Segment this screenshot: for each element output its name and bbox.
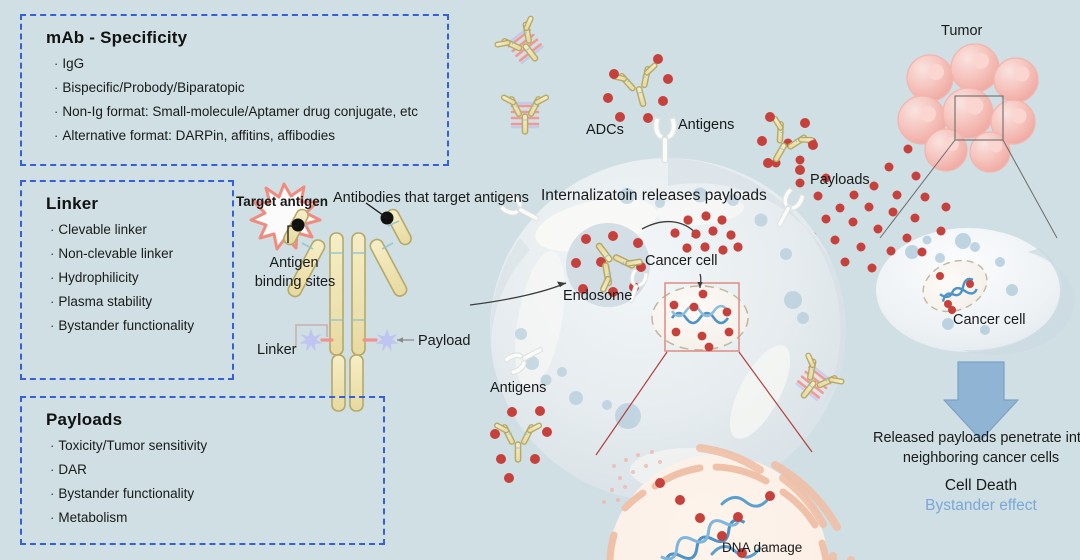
panel-linker-item-3: ·Plasma stability <box>50 294 218 309</box>
label-internalization: Internalizatoin releases payloads <box>541 186 767 205</box>
label-target-antigen: Target antigen <box>236 194 328 211</box>
panel-linker-item-2: ·Hydrophilicity <box>50 270 218 285</box>
panel-linker-item-4: ·Bystander functionality <box>50 318 218 333</box>
panel-mab-item-3: ·Alternative format: DARPin, affitins, a… <box>54 128 433 143</box>
panel-mab-item-0-text: IgG <box>62 56 84 71</box>
label-payloads-scatter: Payloads <box>810 171 870 189</box>
panel-linker-item-0-text: Clevable linker <box>58 222 147 237</box>
adc-molecule-3 <box>603 54 673 123</box>
panel-mab-item-1: ·Bispecific/Probody/Biparatopic <box>54 80 433 95</box>
label-payload: Payload <box>418 332 470 350</box>
label-cancer-cell-right: Cancer cell <box>953 311 1026 329</box>
label-cell-death: Cell Death <box>881 476 1080 495</box>
adc-molecule-2 <box>501 94 549 134</box>
panel-mab-item-2-text: Non-Ig format: Small-molecule/Aptamer dr… <box>62 104 418 119</box>
panel-linker-item-4-text: Bystander functionality <box>58 318 194 333</box>
label-antigen-binding-sites-line1: Antigen <box>251 254 337 272</box>
label-endosome: Endosome <box>563 287 632 305</box>
panel-linker-item-1-text: Non-clevable linker <box>58 246 173 261</box>
center-cancer-cell <box>470 118 847 502</box>
label-dna-damage: DNA damage <box>722 540 802 557</box>
label-released-line2: neighboring cancer cells <box>851 449 1080 467</box>
panel-payloads-item-1: ·DAR <box>50 462 369 477</box>
panel-payloads-item-3-text: Metabolism <box>58 510 127 525</box>
panel-payloads-item-2-text: Bystander functionality <box>58 486 194 501</box>
panel-payloads: Payloads ·Toxicity/Tumor sensitivity ·DA… <box>20 396 385 545</box>
panel-payloads-item-1-text: DAR <box>58 462 87 477</box>
tumor-cluster <box>880 44 1057 238</box>
panel-linker-item-1: ·Non-clevable linker <box>50 246 218 261</box>
panel-mab-item-0: ·IgG <box>54 56 433 71</box>
figure-canvas: mAb - Specificity ·IgG ·Bispecific/Probo… <box>0 0 1080 560</box>
panel-linker-title: Linker <box>46 194 218 214</box>
panel-linker-item-3-text: Plasma stability <box>58 294 152 309</box>
label-antigens-top: Antigens <box>678 116 734 134</box>
panel-payloads-item-3: ·Metabolism <box>50 510 369 525</box>
panel-payloads-item-0: ·Toxicity/Tumor sensitivity <box>50 438 369 453</box>
label-antigens-left: Antigens <box>490 379 546 397</box>
label-cancer-cell-center: Cancer cell <box>645 252 718 270</box>
panel-payloads-title: Payloads <box>46 410 369 430</box>
antibody-schematic <box>251 184 414 411</box>
panel-linker: Linker ·Clevable linker ·Non-clevable li… <box>20 180 234 380</box>
panel-linker-item-0: ·Clevable linker <box>50 222 218 237</box>
label-adcs: ADCs <box>586 121 624 139</box>
label-antibodies-that-target-antigens: Antibodies that target antigens <box>333 189 529 207</box>
label-tumor: Tumor <box>941 22 982 40</box>
adc-molecule-1 <box>493 14 555 75</box>
label-antigen-binding-sites-line2: binding sites <box>243 273 347 291</box>
panel-payloads-item-0-text: Toxicity/Tumor sensitivity <box>58 438 207 453</box>
antigen-binding-site-left <box>292 219 305 232</box>
panel-mab-item-3-text: Alternative format: DARPin, affitins, af… <box>62 128 335 143</box>
panel-linker-item-2-text: Hydrophilicity <box>58 270 138 285</box>
panel-mab-specificity: mAb - Specificity ·IgG ·Bispecific/Probo… <box>20 14 449 166</box>
panel-payloads-item-2: ·Bystander functionality <box>50 486 369 501</box>
label-linker: Linker <box>257 341 297 359</box>
label-bystander-effect: Bystander effect <box>881 496 1080 515</box>
label-released-line1: Released payloads penetrate into <box>851 429 1080 447</box>
panel-mab-title: mAb - Specificity <box>46 28 433 48</box>
panel-mab-item-2: ·Non-Ig format: Small-molecule/Aptamer d… <box>54 104 433 119</box>
right-cancer-cell <box>876 228 1075 355</box>
panel-mab-item-1-text: Bispecific/Probody/Biparatopic <box>62 80 244 95</box>
